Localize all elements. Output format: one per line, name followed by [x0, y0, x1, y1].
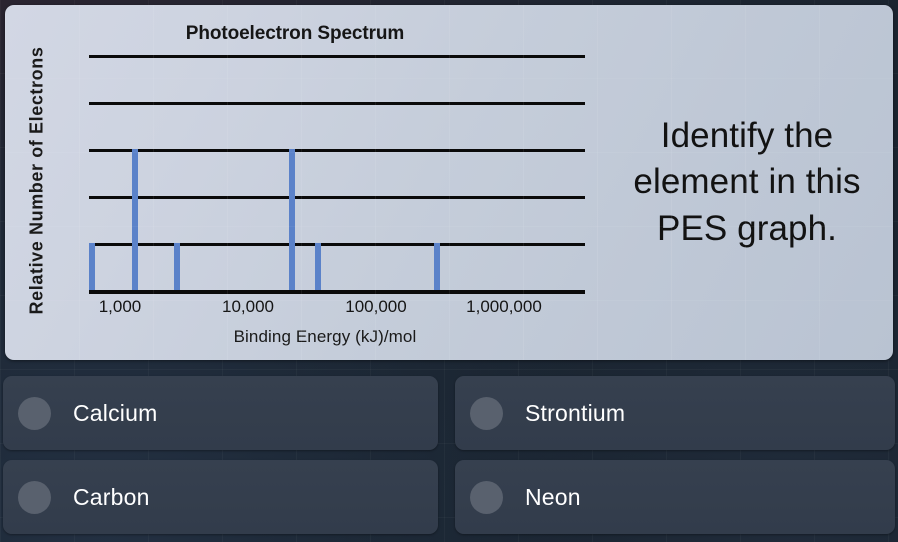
gridline: [89, 102, 585, 105]
answer-option-carbon[interactable]: Carbon: [3, 460, 438, 534]
bar: [174, 243, 180, 290]
gridline: [89, 149, 585, 152]
gridline: [89, 55, 585, 58]
radio-icon[interactable]: [18, 481, 51, 514]
answer-option-label: Carbon: [73, 484, 150, 511]
prompt-container: Identify the element in this PES graph.: [601, 5, 893, 360]
bar: [315, 243, 321, 290]
radio-icon[interactable]: [470, 481, 503, 514]
plot-area: [89, 55, 585, 290]
answer-option-label: Neon: [525, 484, 581, 511]
answer-option-neon[interactable]: Neon: [455, 460, 895, 534]
answer-option-calcium[interactable]: Calcium: [3, 376, 438, 450]
gridline: [89, 196, 585, 199]
radio-icon[interactable]: [18, 397, 51, 430]
chart-title: Photoelectron Spectrum: [5, 23, 585, 45]
x-tick-label: 1,000: [50, 297, 190, 317]
y-axis-label: Relative Number of Electrons: [27, 41, 48, 321]
bar: [434, 243, 440, 290]
answer-option-strontium[interactable]: Strontium: [455, 376, 895, 450]
question-prompt: Identify the element in this PES graph.: [611, 113, 883, 253]
bar: [289, 149, 295, 290]
x-tick-label: 10,000: [178, 297, 318, 317]
bar: [89, 243, 95, 290]
answer-option-label: Strontium: [525, 400, 625, 427]
pes-chart: Photoelectron Spectrum Relative Number o…: [5, 5, 605, 360]
x-tick-label: 1,000,000: [434, 297, 574, 317]
question-card: Photoelectron Spectrum Relative Number o…: [5, 5, 893, 360]
x-axis-line: [89, 290, 585, 294]
gridline: [89, 243, 585, 246]
x-axis-label: Binding Energy (kJ)/mol: [65, 327, 585, 347]
x-tick-label: 100,000: [306, 297, 446, 317]
radio-icon[interactable]: [470, 397, 503, 430]
bar: [132, 149, 138, 290]
answer-option-label: Calcium: [73, 400, 157, 427]
